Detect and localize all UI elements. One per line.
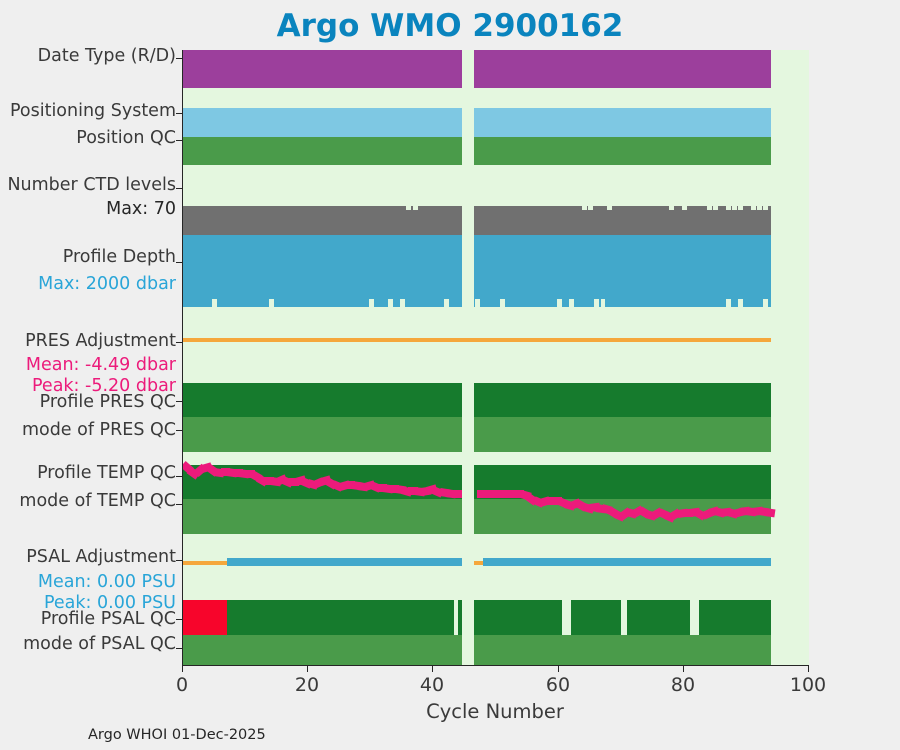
band-date-type[interactable] bbox=[474, 50, 771, 88]
xticklabel-40: 40 bbox=[397, 674, 467, 696]
xtick-100 bbox=[808, 665, 809, 672]
band-positioning-system[interactable] bbox=[183, 108, 462, 137]
band-ctd-levels-notch bbox=[757, 206, 762, 210]
row-label-mode-pres-qc: mode of PRES QC bbox=[0, 422, 176, 440]
row-label-mode-temp-qc: mode of TEMP QC bbox=[0, 493, 176, 511]
band-profile-depth-notch bbox=[594, 299, 599, 307]
row-label-psal-adjustment-mean: Mean: 0.00 PSU bbox=[0, 574, 176, 592]
xticklabel-100: 100 bbox=[773, 674, 843, 696]
band-ctd-levels-notch bbox=[751, 206, 756, 210]
band-profile-psal-qc[interactable] bbox=[571, 600, 621, 635]
row-label-profile-psal-qc: Profile PSAL QC bbox=[0, 611, 176, 629]
row-label-pres-adjustment-mean: Mean: -4.49 dbar bbox=[0, 357, 176, 375]
row-label-profile-depth: Profile Depth bbox=[0, 249, 176, 267]
row-label-mode-psal-qc: mode of PSAL QC bbox=[0, 636, 176, 654]
xtick-60 bbox=[558, 665, 559, 672]
band-profile-depth-notch bbox=[388, 299, 393, 307]
band-ctd-levels-notch bbox=[582, 206, 587, 210]
band-profile-depth-notch bbox=[269, 299, 274, 307]
band-ctd-levels-notch bbox=[607, 206, 612, 210]
band-profile-depth-notch bbox=[763, 299, 768, 307]
band-mode-psal-qc[interactable] bbox=[183, 635, 462, 665]
band-ctd-levels-notch bbox=[669, 206, 674, 210]
footer-credit: Argo WHOI 01-Dec-2025 bbox=[88, 727, 266, 743]
row-label-profile-pres-qc: Profile PRES QC bbox=[0, 394, 176, 412]
xtick-40 bbox=[432, 665, 433, 672]
xticklabel-60: 60 bbox=[523, 674, 593, 696]
x-axis-label: Cycle Number bbox=[182, 700, 808, 723]
band-ctd-levels-notch bbox=[713, 206, 718, 210]
band-ctd-levels-notch bbox=[413, 206, 418, 210]
band-profile-pres-qc[interactable] bbox=[474, 383, 771, 417]
band-profile-depth-notch bbox=[738, 299, 743, 307]
band-mode-psal-qc[interactable] bbox=[474, 635, 771, 665]
row-label-profile-depth-max: Max: 2000 dbar bbox=[0, 276, 176, 294]
band-ctd-levels-notch bbox=[738, 206, 743, 210]
band-profile-depth[interactable] bbox=[474, 235, 771, 307]
band-mode-temp-qc[interactable] bbox=[183, 499, 462, 534]
xtick-0 bbox=[182, 665, 183, 672]
line-pres-adjustment bbox=[183, 338, 771, 342]
band-date-type[interactable] bbox=[183, 50, 462, 88]
xtick-20 bbox=[307, 665, 308, 672]
band-position-qc[interactable] bbox=[474, 137, 771, 165]
band-ctd-levels-notch bbox=[406, 206, 411, 210]
band-ctd-levels-notch bbox=[682, 206, 687, 210]
band-profile-psal-qc[interactable] bbox=[458, 600, 462, 635]
xtick-80 bbox=[683, 665, 684, 672]
band-ctd-levels-notch bbox=[707, 206, 712, 210]
band-profile-depth-notch bbox=[726, 299, 731, 307]
chart-plot-area[interactable] bbox=[182, 50, 809, 666]
band-profile-depth-notch bbox=[601, 299, 606, 307]
band-ctd-levels-notch bbox=[732, 206, 737, 210]
band-mode-pres-qc[interactable] bbox=[474, 417, 771, 452]
band-profile-depth[interactable] bbox=[183, 235, 462, 307]
line-psal-adjustment-adj bbox=[227, 558, 462, 566]
band-positioning-system[interactable] bbox=[474, 108, 771, 137]
band-profile-depth-notch bbox=[500, 299, 505, 307]
row-label-pres-adjustment: PRES Adjustment bbox=[0, 333, 176, 351]
band-profile-psal-qc[interactable] bbox=[183, 600, 227, 635]
band-profile-depth-notch bbox=[475, 299, 480, 307]
row-label-ctd-levels-max: Max: 70 bbox=[0, 201, 176, 219]
band-profile-depth-notch bbox=[557, 299, 562, 307]
row-label-profile-temp-qc: Profile TEMP QC bbox=[0, 465, 176, 483]
row-label-ctd-levels: Number CTD levels bbox=[0, 177, 176, 195]
band-profile-pres-qc[interactable] bbox=[183, 383, 462, 417]
band-profile-psal-qc[interactable] bbox=[227, 600, 454, 635]
band-position-qc[interactable] bbox=[183, 137, 462, 165]
xticklabel-0: 0 bbox=[147, 674, 217, 696]
band-profile-depth-notch bbox=[569, 299, 574, 307]
row-label-date-type: Date Type (R/D) bbox=[0, 48, 176, 66]
row-label-position-qc: Position QC bbox=[0, 130, 176, 148]
chart-data-layer bbox=[183, 50, 809, 665]
xticklabel-80: 80 bbox=[648, 674, 718, 696]
band-ctd-levels-notch bbox=[726, 206, 731, 210]
band-ctd-levels-notch bbox=[588, 206, 593, 210]
band-profile-depth-notch bbox=[212, 299, 217, 307]
band-profile-depth-notch bbox=[400, 299, 405, 307]
line-temp-trend bbox=[452, 490, 461, 498]
line-temp-trend bbox=[765, 508, 776, 517]
row-label-psal-adjustment: PSAL Adjustment bbox=[0, 549, 176, 567]
band-profile-depth-notch bbox=[444, 299, 449, 307]
band-profile-depth-notch bbox=[369, 299, 374, 307]
band-ctd-levels-notch bbox=[763, 206, 768, 210]
row-label-positioning-system: Positioning System bbox=[0, 103, 176, 121]
page-title: Argo WMO 2900162 bbox=[0, 8, 900, 44]
band-profile-psal-qc[interactable] bbox=[627, 600, 690, 635]
band-profile-psal-qc[interactable] bbox=[474, 600, 562, 635]
band-profile-psal-qc[interactable] bbox=[699, 600, 771, 635]
xticklabel-20: 20 bbox=[272, 674, 342, 696]
band-mode-pres-qc[interactable] bbox=[183, 417, 462, 452]
line-psal-adjustment-adj bbox=[483, 558, 771, 566]
